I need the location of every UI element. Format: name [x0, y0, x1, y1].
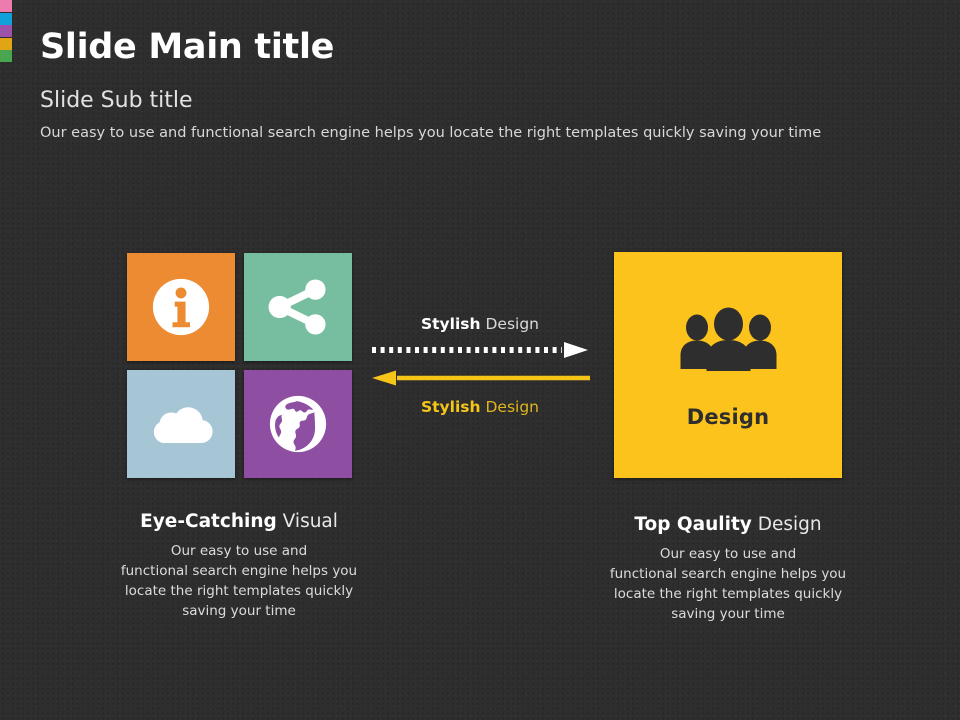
- caption-left-title-bold: Eye-Catching: [140, 511, 277, 532]
- caption-left-body: Our easy to use and functional search en…: [79, 541, 399, 621]
- caption-left-title-rest: Visual: [277, 511, 338, 532]
- connector-bottom-label-bold: Stylish: [421, 398, 481, 416]
- accent-swatch-pink: [0, 0, 12, 12]
- share-icon: [267, 278, 329, 336]
- feature-tile-grid: [127, 253, 352, 478]
- slide-sub-title: Slide Sub title: [40, 86, 193, 116]
- connector-arrow-left: [369, 369, 591, 391]
- caption-right-title-bold: Top Qaulity: [634, 514, 752, 535]
- design-panel-label: Design: [687, 405, 770, 429]
- caption-right: Top Qaulity Design Our easy to use and f…: [568, 513, 888, 624]
- cloud-icon: [148, 402, 214, 446]
- tile-share[interactable]: [244, 253, 352, 361]
- caption-left: Eye-Catching Visual Our easy to use and …: [79, 510, 399, 621]
- connector-top-label-rest: Design: [481, 315, 539, 333]
- caption-left-title: Eye-Catching Visual: [79, 510, 399, 534]
- tile-globe[interactable]: [244, 370, 352, 478]
- slide-header-description: Our easy to use and functional search en…: [40, 123, 821, 143]
- connector-bottom-label: Stylish Design: [370, 397, 590, 417]
- slide-main-title: Slide Main title: [40, 25, 334, 69]
- accent-swatch-purple: [0, 25, 12, 37]
- caption-right-body: Our easy to use and functional search en…: [568, 544, 888, 624]
- accent-color-bar: [0, 0, 12, 62]
- globe-icon: [267, 393, 329, 455]
- caption-right-title: Top Qaulity Design: [568, 513, 888, 537]
- tile-information[interactable]: [127, 253, 235, 361]
- accent-swatch-blue: [0, 13, 12, 25]
- connector-arrow-right: [370, 341, 590, 363]
- caption-right-title-rest: Design: [752, 514, 822, 535]
- accent-swatch-green: [0, 50, 12, 62]
- connector-top-label: Stylish Design: [370, 314, 590, 334]
- design-panel[interactable]: Design: [614, 252, 842, 478]
- accent-swatch-gold: [0, 38, 12, 50]
- people-group-icon: [676, 307, 781, 377]
- connector-top-label-bold: Stylish: [421, 315, 481, 333]
- info-icon: [150, 276, 212, 338]
- slide-canvas: Slide Main title Slide Sub title Our eas…: [0, 0, 960, 720]
- connector-bottom-label-rest: Design: [481, 398, 539, 416]
- tile-cloud[interactable]: [127, 370, 235, 478]
